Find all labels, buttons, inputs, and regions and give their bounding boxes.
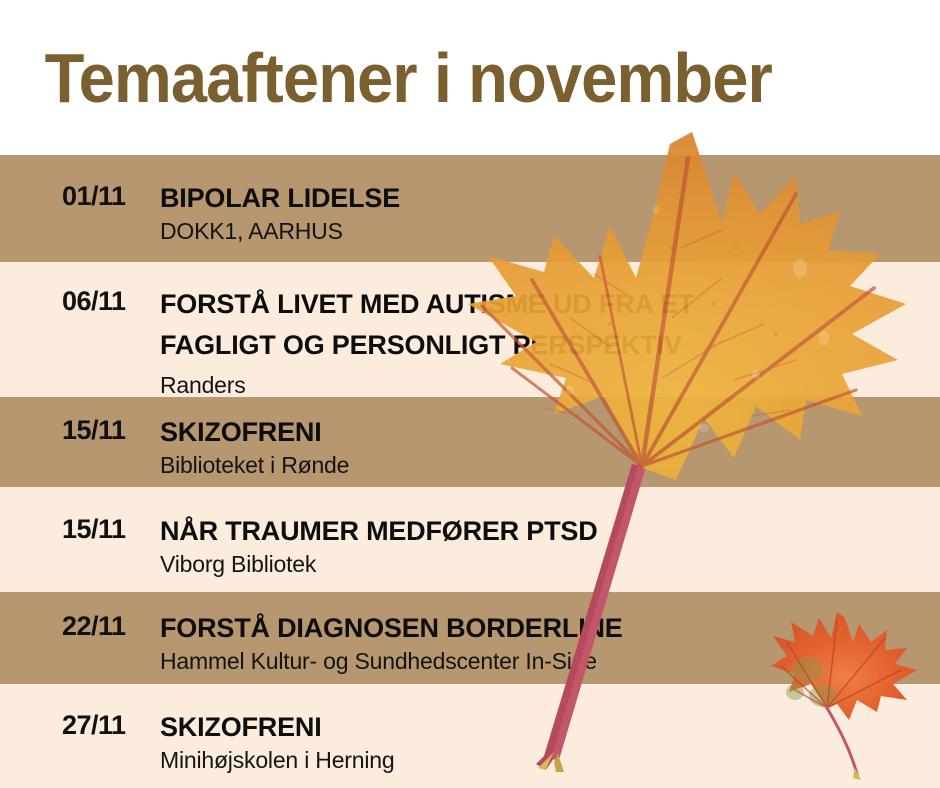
event-venue: Biblioteket i Rønde [160, 450, 928, 480]
event-title-line: FAGLIGT OG PERSONLIGT PERSPEKTIV [160, 325, 928, 366]
event-date: 27/11 [0, 710, 160, 741]
event-title-line: SKIZOFRENI [160, 710, 928, 745]
event-title: FORSTÅ DIAGNOSEN BORDERLINE [160, 611, 928, 646]
event-title: NÅR TRAUMER MEDFØRER PTSD [160, 514, 928, 549]
event-title: FORSTÅ LIVET MED AUTISME UD FRA ET FAGLI… [160, 284, 928, 366]
event-title: SKIZOFRENI [160, 710, 928, 745]
event-date: 15/11 [0, 514, 160, 545]
event-row: 22/11 FORSTÅ DIAGNOSEN BORDERLINE Hammel… [0, 592, 940, 684]
poster-header: Temaaftener i november [0, 0, 940, 155]
event-venue: Viborg Bibliotek [160, 549, 928, 579]
event-row: 27/11 SKIZOFRENI Minihøjskolen i Herning [0, 684, 940, 788]
event-venue: Randers [160, 366, 928, 400]
event-title-line: BIPOLAR LIDELSE [160, 181, 928, 216]
event-title-line: NÅR TRAUMER MEDFØRER PTSD [160, 514, 928, 549]
event-date: 01/11 [0, 181, 160, 212]
event-venue: Hammel Kultur- og Sundhedscenter In-Side [160, 646, 928, 676]
event-title: BIPOLAR LIDELSE [160, 181, 928, 216]
event-date: 22/11 [0, 611, 160, 642]
event-body: SKIZOFRENI Minihøjskolen i Herning [160, 710, 940, 775]
event-row: 15/11 SKIZOFRENI Biblioteket i Rønde [0, 397, 940, 487]
event-body: NÅR TRAUMER MEDFØRER PTSD Viborg Bibliot… [160, 514, 940, 579]
event-row: 01/11 BIPOLAR LIDELSE DOKK1, AARHUS [0, 155, 940, 262]
event-body: BIPOLAR LIDELSE DOKK1, AARHUS [160, 181, 940, 246]
event-venue: Minihøjskolen i Herning [160, 745, 928, 775]
event-date: 15/11 [0, 415, 160, 446]
event-body: FORSTÅ DIAGNOSEN BORDERLINE Hammel Kultu… [160, 611, 940, 676]
event-title-line: FORSTÅ LIVET MED AUTISME UD FRA ET [160, 284, 928, 325]
event-body: FORSTÅ LIVET MED AUTISME UD FRA ET FAGLI… [160, 284, 940, 400]
page-title: Temaaftener i november [0, 38, 772, 118]
event-title-line: FORSTÅ DIAGNOSEN BORDERLINE [160, 611, 928, 646]
event-date: 06/11 [0, 284, 160, 317]
event-venue: DOKK1, AARHUS [160, 216, 928, 246]
poster-canvas: Temaaftener i november 01/11 BIPOLAR LID… [0, 0, 940, 788]
event-title: SKIZOFRENI [160, 415, 928, 450]
event-row: 15/11 NÅR TRAUMER MEDFØRER PTSD Viborg B… [0, 487, 940, 592]
event-row: 06/11 FORSTÅ LIVET MED AUTISME UD FRA ET… [0, 262, 940, 397]
event-list: 01/11 BIPOLAR LIDELSE DOKK1, AARHUS 06/1… [0, 155, 940, 788]
event-title-line: SKIZOFRENI [160, 415, 928, 450]
event-body: SKIZOFRENI Biblioteket i Rønde [160, 415, 940, 480]
